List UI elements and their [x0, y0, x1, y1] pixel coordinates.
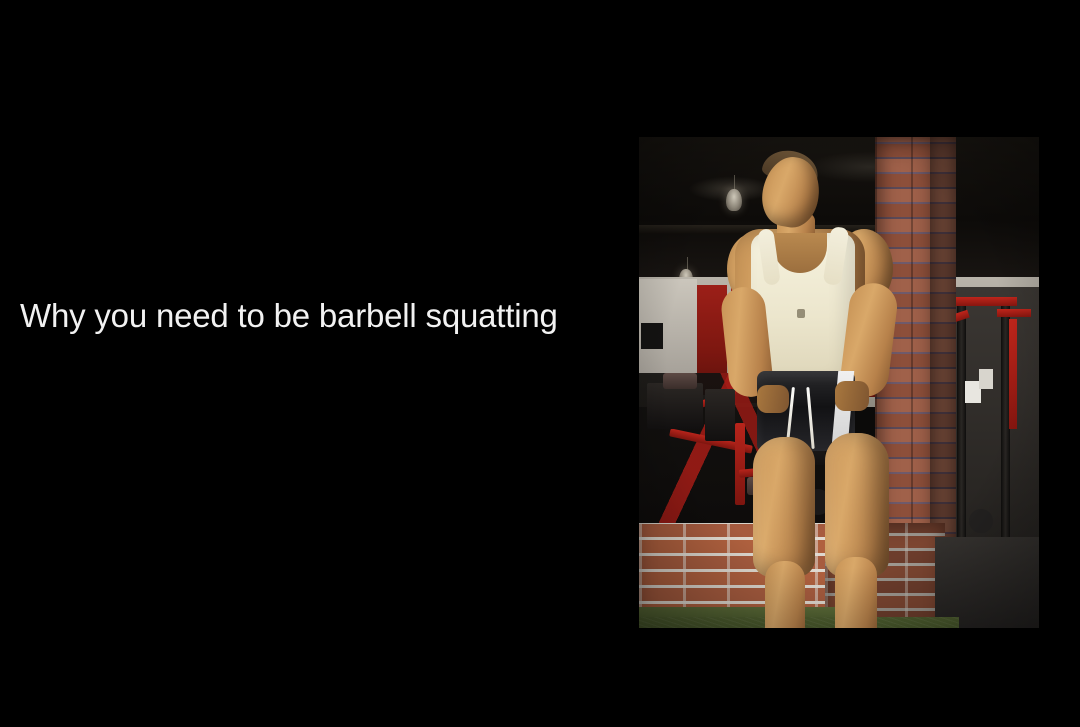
rack-crossbar [951, 297, 1017, 306]
rack-arm [997, 309, 1031, 317]
machine-post [735, 423, 745, 505]
rack-placard [979, 369, 993, 389]
left-thigh [753, 437, 815, 577]
pendant-light [726, 189, 742, 211]
slide-title: Why you need to be barbell squatting [20, 296, 620, 336]
tank-logo [797, 309, 805, 318]
dark-floor [935, 537, 1039, 628]
weight-plate [969, 509, 993, 533]
machine-body [647, 383, 703, 429]
gym-photo [639, 137, 1039, 628]
left-calf [765, 561, 805, 628]
wall-fixture [641, 323, 663, 349]
left-hand [757, 385, 789, 413]
machine-body [705, 389, 735, 441]
presentation-slide: Why you need to be barbell squatting [0, 0, 1080, 727]
pendant-cord [734, 175, 735, 189]
right-thigh [825, 433, 889, 577]
right-hand [835, 381, 869, 411]
right-calf [835, 557, 877, 628]
rack-upright [1009, 319, 1017, 429]
machine-pad [663, 373, 697, 389]
